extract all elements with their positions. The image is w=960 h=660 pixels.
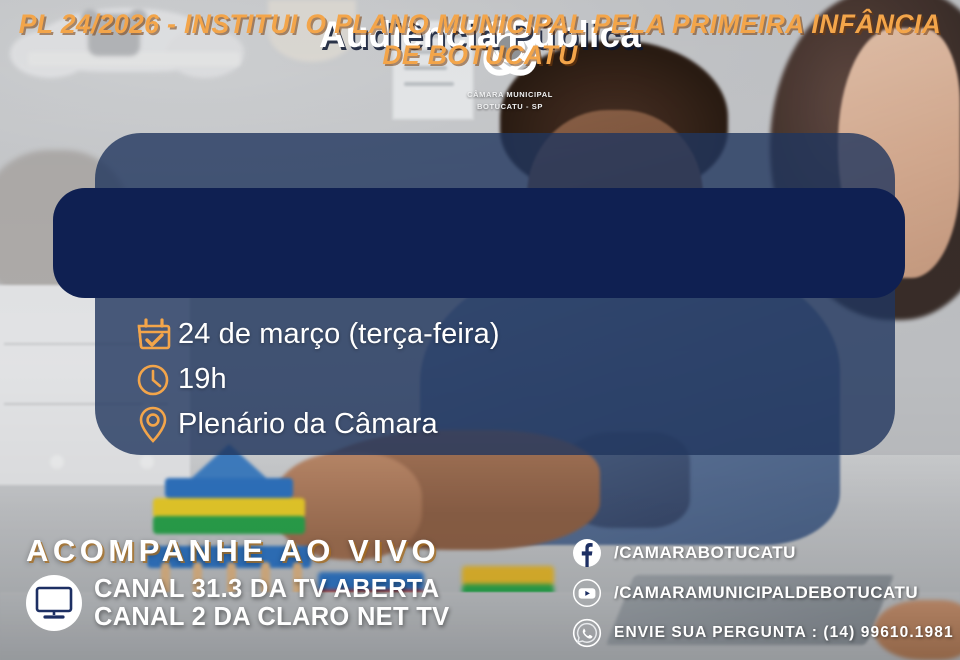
live-broadcast-section: ACOMPANHE AO VIVO CANAL 31.3 DA TV ABERT…: [26, 533, 449, 631]
live-channel-line-1: CANAL 31.3 DA TV ABERTA: [94, 575, 449, 603]
location-pin-icon: [128, 406, 178, 444]
youtube-icon[interactable]: [572, 578, 614, 608]
live-channel-line-2: CANAL 2 DA CLARO NET TV: [94, 603, 449, 631]
logo-line-2: BOTUCATU - SP: [455, 102, 565, 112]
detail-date-text: 24 de março (terça-feira): [178, 318, 500, 351]
detail-row-time: 19h: [128, 357, 500, 402]
social-links-section: /CAMARABOTUCATU /CAMARAMUNICIPALDEBOTUCA…: [572, 533, 954, 653]
calendar-check-icon: [128, 317, 178, 353]
clock-icon: [128, 363, 178, 397]
whatsapp-handle[interactable]: ENVIE SUA PERGUNTA : (14) 99610.1981: [614, 624, 954, 642]
social-row-youtube[interactable]: /CAMARAMUNICIPALDEBOTUCATU: [572, 573, 954, 613]
live-channels-row: CANAL 31.3 DA TV ABERTA CANAL 2 DA CLARO…: [26, 575, 449, 631]
detail-location-text: Plenário da Câmara: [178, 408, 438, 441]
logo-line-1: CÂMARA MUNICIPAL: [455, 90, 565, 100]
detail-time-text: 19h: [178, 363, 227, 396]
social-row-whatsapp[interactable]: ENVIE SUA PERGUNTA : (14) 99610.1981: [572, 613, 954, 653]
live-channels: CANAL 31.3 DA TV ABERTA CANAL 2 DA CLARO…: [94, 575, 449, 631]
whatsapp-icon[interactable]: [572, 618, 614, 648]
facebook-handle[interactable]: /CAMARABOTUCATU: [614, 543, 796, 563]
event-details: 24 de março (terça-feira) 19h Plenário d…: [128, 312, 500, 447]
tv-monitor-icon: [26, 575, 82, 631]
event-poster: CÂMARA MUNICIPAL BOTUCATU - SP Audiência…: [0, 0, 960, 660]
social-row-facebook[interactable]: /CAMARABOTUCATU: [572, 533, 954, 573]
detail-row-location: Plenário da Câmara: [128, 402, 500, 447]
facebook-icon[interactable]: [572, 538, 614, 568]
bill-title-text: PL 24/2026 - INSTITUI O PLANO MUNICIPAL …: [0, 9, 960, 71]
live-heading: ACOMPANHE AO VIVO: [26, 533, 449, 569]
bill-title-bar: [53, 188, 905, 298]
youtube-handle[interactable]: /CAMARAMUNICIPALDEBOTUCATU: [614, 583, 918, 603]
detail-row-date: 24 de março (terça-feira): [128, 312, 500, 357]
